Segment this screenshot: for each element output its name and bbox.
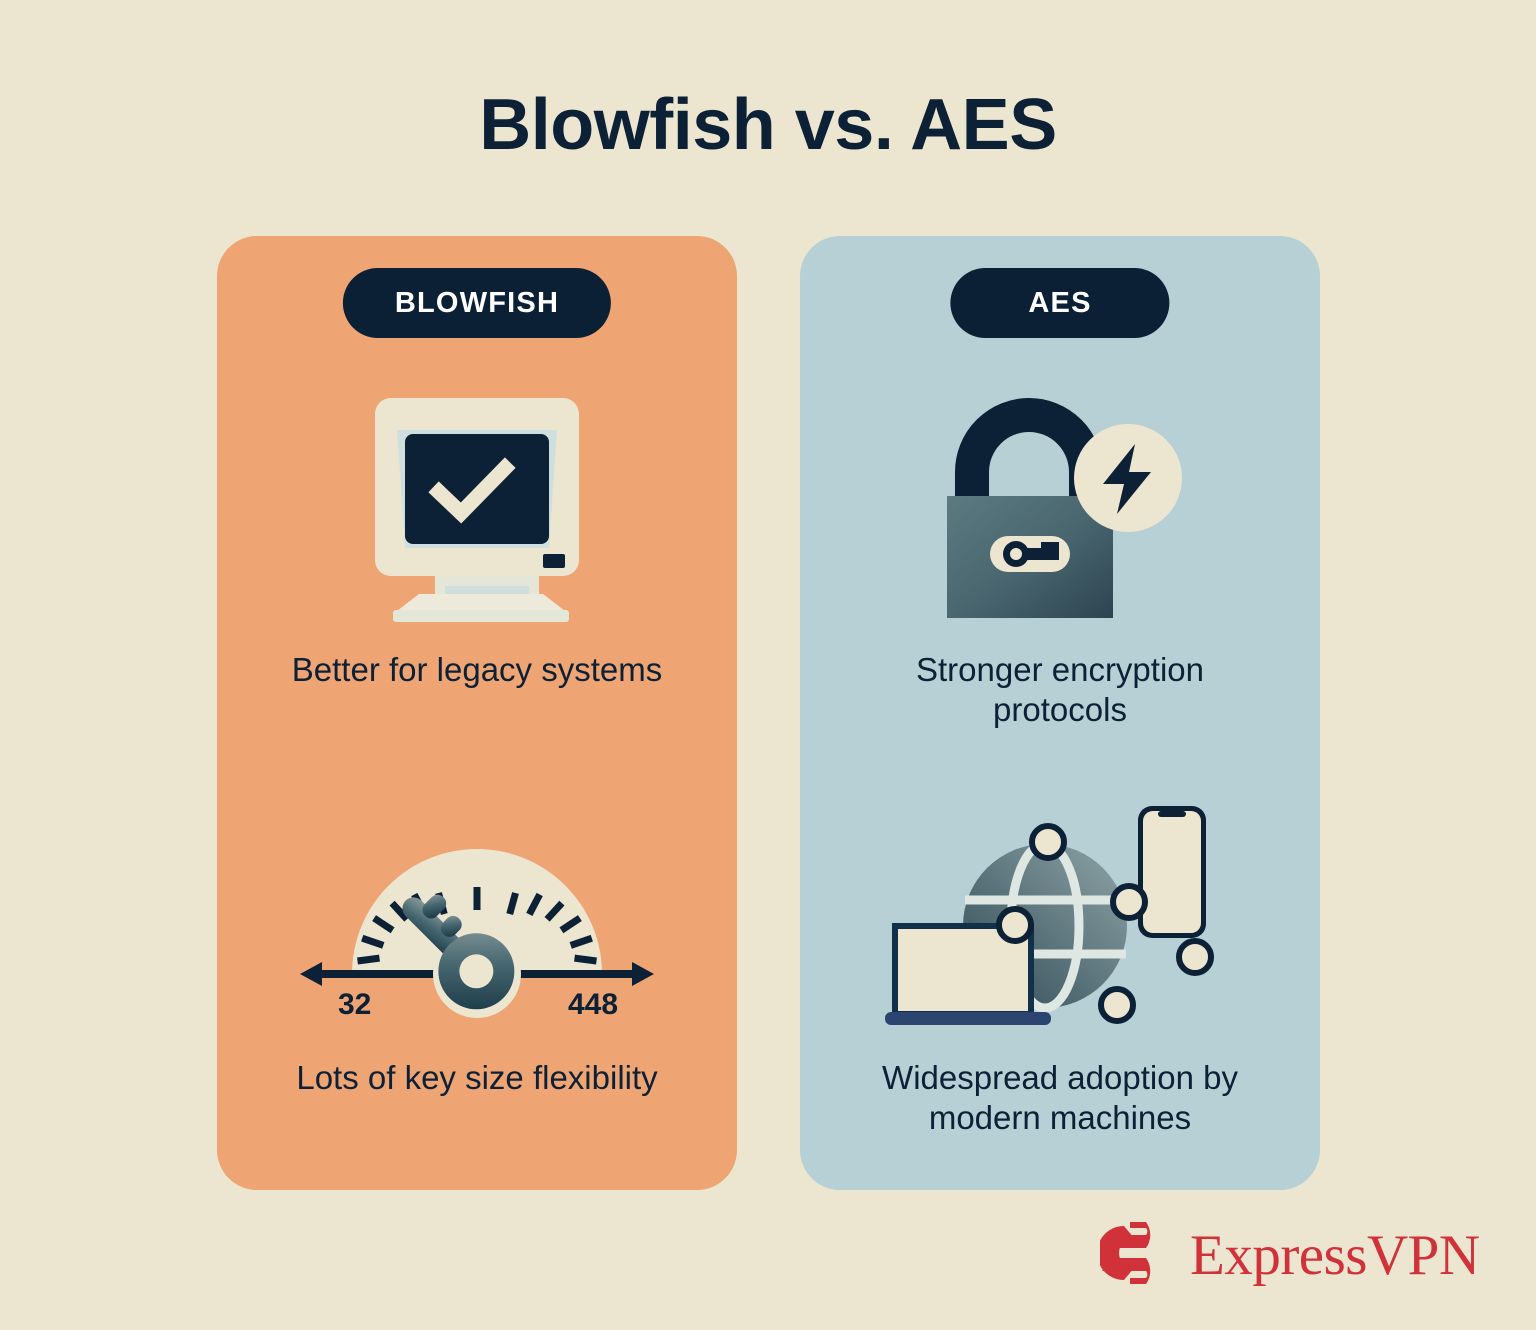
- panel-aes: AES: [800, 236, 1320, 1190]
- infographic-canvas: Blowfish vs. AES BLOWFISH: [0, 0, 1536, 1330]
- globe-devices-network-icon: [885, 794, 1235, 1044]
- badge-blowfish-label: BLOWFISH: [395, 287, 559, 320]
- caption-aes-adoption: Widespread adoption by modern machines: [845, 1058, 1275, 1139]
- caption-blowfish-keysize: Lots of key size flexibility: [296, 1058, 657, 1098]
- caption-blowfish-legacy: Better for legacy systems: [292, 650, 662, 690]
- feature-aes-encryption: Stronger encryption protocols: [800, 386, 1320, 731]
- feature-blowfish-keysize: 32 448 Lots of key size flexibility: [217, 794, 737, 1098]
- caption-aes-encryption: Stronger encryption protocols: [845, 650, 1275, 731]
- expressvpn-e-mark-icon: [1100, 1222, 1176, 1289]
- badge-aes: AES: [950, 268, 1169, 338]
- gauge-max-label: 448: [568, 988, 618, 1021]
- key-size-gauge-icon: 32 448: [292, 794, 662, 1044]
- badge-blowfish: BLOWFISH: [343, 268, 611, 338]
- gauge-min-label: 32: [338, 988, 371, 1021]
- panel-blowfish: BLOWFISH: [217, 236, 737, 1190]
- crt-monitor-checkmark-icon: [357, 386, 597, 636]
- padlock-lightning-icon: [925, 386, 1195, 636]
- expressvpn-logo: ExpressVPN: [1100, 1222, 1480, 1289]
- feature-aes-adoption: Widespread adoption by modern machines: [800, 794, 1320, 1139]
- feature-blowfish-legacy: Better for legacy systems: [217, 386, 737, 690]
- page-title: Blowfish vs. AES: [0, 88, 1536, 164]
- expressvpn-wordmark: ExpressVPN: [1190, 1227, 1480, 1284]
- badge-aes-label: AES: [1028, 287, 1091, 320]
